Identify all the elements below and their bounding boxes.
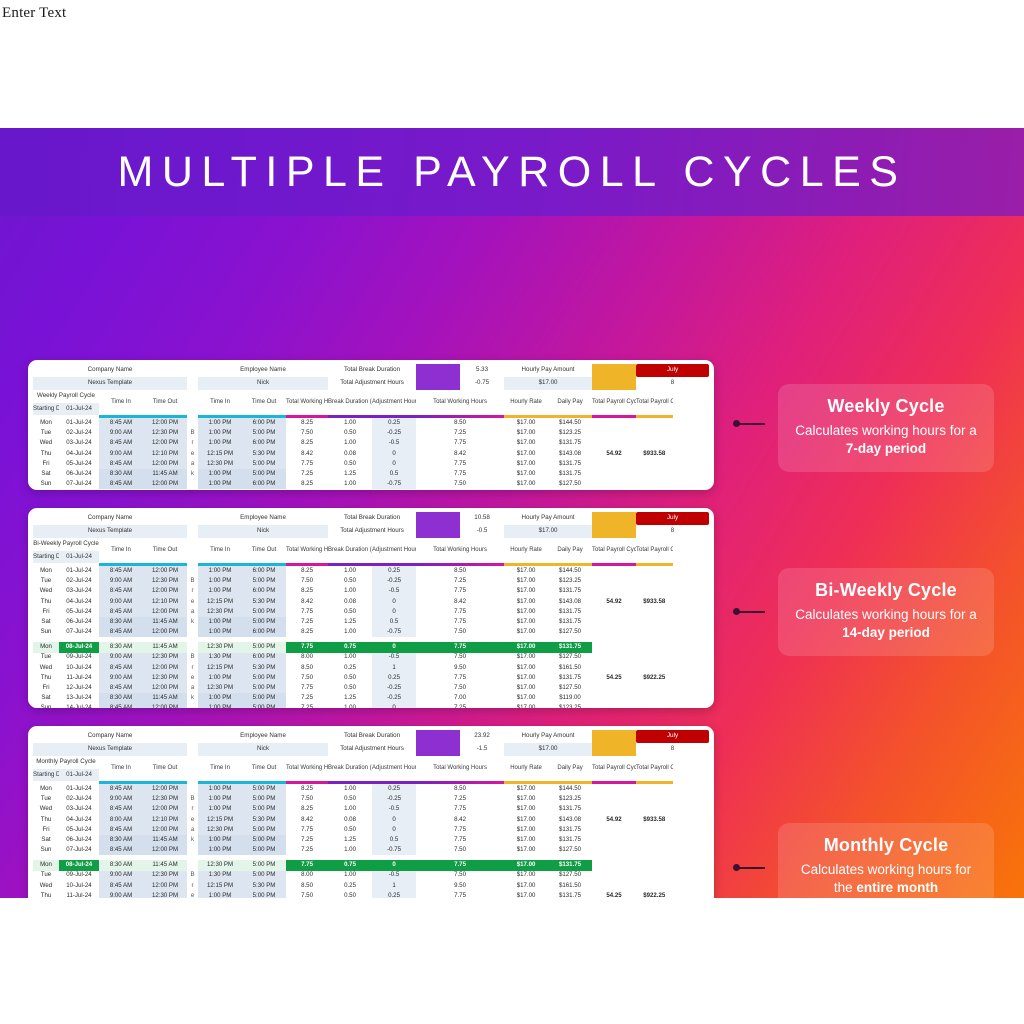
cell-time-in-2[interactable]: 1:30 PM xyxy=(198,871,242,881)
cell-time-in-2[interactable]: 1:00 PM xyxy=(198,438,242,448)
cell-total-working-hours: 7.75 xyxy=(286,459,328,469)
cell-time-in-1[interactable]: 9:00 AM xyxy=(99,449,143,459)
cell-adjustment-hours[interactable]: 0.25 xyxy=(372,784,416,794)
total-adjustment-hours-label: Total Adjustment Hours xyxy=(328,743,416,756)
cell-time-in-1[interactable]: 8:45 AM xyxy=(99,586,143,596)
col-header-time-in-1: Time In xyxy=(99,538,143,563)
cell-daily-pay: $144.50 xyxy=(548,566,592,576)
col-header-adjustment-hours: Adjustment Hours xyxy=(372,756,416,781)
cell-date[interactable]: 10-Jul-24 xyxy=(59,663,99,673)
cell-time-in-1[interactable]: 8:45 AM xyxy=(99,438,143,448)
cell-break-duration[interactable]: 0.50 xyxy=(328,794,372,804)
cell-date[interactable]: 12-Jul-24 xyxy=(59,683,99,693)
hourly-pay-amount-value[interactable]: $17.00 xyxy=(504,377,592,390)
cell-time-out-2[interactable]: 5:30 PM xyxy=(242,815,286,825)
cell-date[interactable]: 01-Jul-24 xyxy=(59,566,99,576)
cell-time-in-1[interactable]: 9:00 AM xyxy=(99,794,143,804)
cell-time-in-2[interactable]: 1:00 PM xyxy=(198,835,242,845)
cell-total-working-hours: 8.25 xyxy=(286,479,328,489)
cell-time-in-1[interactable]: 9:00 AM xyxy=(99,576,143,586)
cell-time-out-1[interactable]: 12:00 PM xyxy=(143,825,187,835)
cell-adjustment-hours[interactable]: 0.5 xyxy=(372,617,416,627)
cell-date[interactable]: 06-Jul-24 xyxy=(59,469,99,479)
cell-time-in-1[interactable]: 8:45 AM xyxy=(99,881,143,891)
cell-time-out-1[interactable]: 12:00 PM xyxy=(143,586,187,596)
cell-adjustment-hours[interactable]: 0 xyxy=(372,825,416,835)
cell-time-in-1[interactable]: 8:30 AM xyxy=(99,642,143,652)
cell-time-out-1[interactable]: 12:10 PM xyxy=(143,815,187,825)
cell-break-duration[interactable]: 1.00 xyxy=(328,703,372,708)
cell-hourly-rate: $17.00 xyxy=(504,642,548,652)
cell-date[interactable]: 01-Jul-24 xyxy=(59,418,99,428)
cell-break-duration[interactable]: 1.00 xyxy=(328,627,372,637)
cell-date[interactable]: 09-Jul-24 xyxy=(59,871,99,881)
cell-hourly-rate: $17.00 xyxy=(504,566,548,576)
cell-break-duration[interactable]: 1.25 xyxy=(328,469,372,479)
cell-time-out-1[interactable]: 12:00 PM xyxy=(143,418,187,428)
cell-time-out-2[interactable]: 5:00 PM xyxy=(242,835,286,845)
cell-date[interactable]: 11-Jul-24 xyxy=(59,673,99,683)
cell-time-in-2[interactable]: 12:15 PM xyxy=(198,597,242,607)
cell-time-in-2[interactable]: 12:30 PM xyxy=(198,459,242,469)
cell-time-in-2[interactable]: 1:00 PM xyxy=(198,784,242,794)
company-name-value[interactable]: Nexus Template xyxy=(33,743,187,756)
cell-time-in-1[interactable]: 9:00 AM xyxy=(99,673,143,683)
cell-adjustment-hours[interactable]: -0.5 xyxy=(372,871,416,881)
cell-break-duration[interactable]: 1.00 xyxy=(328,566,372,576)
cell-time-out-2[interactable]: 5:00 PM xyxy=(242,469,286,479)
cell-time-in-1[interactable]: 8:45 AM xyxy=(99,804,143,814)
cell-break-duration[interactable]: 0.75 xyxy=(328,642,372,652)
cell-adjustment-hours[interactable]: 1 xyxy=(372,881,416,891)
cell-time-out-2[interactable]: 6:00 PM xyxy=(242,566,286,576)
cell-date[interactable]: 02-Jul-24 xyxy=(59,576,99,586)
cell-hourly-rate: $17.00 xyxy=(504,607,548,617)
cell-time-in-2[interactable]: 1:00 PM xyxy=(198,428,242,438)
cell-cycle-hours: 54.92 xyxy=(592,566,636,637)
cell-adjustment-hours[interactable]: -0.75 xyxy=(372,845,416,855)
cell-time-in-2[interactable]: 1:00 PM xyxy=(198,693,242,703)
cell-time-in-1[interactable]: 8:45 AM xyxy=(99,845,143,855)
purple-divider-icon xyxy=(416,377,460,390)
cell-time-out-2[interactable]: 5:00 PM xyxy=(242,642,286,652)
cell-time-in-2[interactable]: 1:00 PM xyxy=(198,576,242,586)
cell-date[interactable]: 07-Jul-24 xyxy=(59,479,99,489)
cell-date[interactable]: 01-Jul-24 xyxy=(59,784,99,794)
cell-time-in-1[interactable]: 8:45 AM xyxy=(99,418,143,428)
cell-time-out-1[interactable]: 12:30 PM xyxy=(143,576,187,586)
cell-day: Sun xyxy=(33,627,59,637)
payroll-sheet-monthly: Company NameEmployee NameTotal Break Dur… xyxy=(33,730,709,898)
cell-time-out-1[interactable]: 12:10 PM xyxy=(143,597,187,607)
cell-break-duration[interactable]: 0.75 xyxy=(328,860,372,870)
col-header-total-working-hours-2: Total Working Hours xyxy=(416,538,504,563)
cell-date[interactable]: 11-Jul-24 xyxy=(59,891,99,898)
cell-date[interactable]: 09-Jul-24 xyxy=(59,653,99,663)
cell-time-in-2[interactable]: 1:00 PM xyxy=(198,469,242,479)
cell-adjustment-hours[interactable]: -0.5 xyxy=(372,438,416,448)
cell-daily-pay: $127.50 xyxy=(548,845,592,855)
cell-time-in-2[interactable]: 12:15 PM xyxy=(198,663,242,673)
cell-daily-pay: $143.08 xyxy=(548,597,592,607)
cell-break-duration[interactable]: 0.50 xyxy=(328,428,372,438)
cell-break-duration[interactable]: 0.25 xyxy=(328,663,372,673)
cell-adjustment-hours[interactable]: 0 xyxy=(372,459,416,469)
cell-time-out-1[interactable]: 12:00 PM xyxy=(143,627,187,637)
cell-total-working-hours: 7.75 xyxy=(286,683,328,693)
col-header-hourly-rate: Hourly Rate xyxy=(504,538,548,563)
cell-time-in-1[interactable]: 8:00 AM xyxy=(99,815,143,825)
cell-adjustment-hours[interactable]: 0 xyxy=(372,703,416,708)
cell-time-out-1[interactable]: 12:30 PM xyxy=(143,794,187,804)
cell-adjustment-hours[interactable]: 1 xyxy=(372,663,416,673)
cell-date[interactable]: 05-Jul-24 xyxy=(59,825,99,835)
cell-break-duration[interactable]: 1.00 xyxy=(328,871,372,881)
cell-adjustment-hours[interactable]: 0.25 xyxy=(372,673,416,683)
cell-adjustment-hours[interactable]: -0.25 xyxy=(372,428,416,438)
hourly-pay-amount-value[interactable]: $17.00 xyxy=(504,525,592,538)
cell-cycle-hours: 54.92 xyxy=(592,784,636,855)
cell-time-out-1[interactable]: 11:45 AM xyxy=(143,860,187,870)
cell-day: Sun xyxy=(33,845,59,855)
cell-time-in-1[interactable]: 8:30 AM xyxy=(99,469,143,479)
cell-total-working-hours: 7.25 xyxy=(286,845,328,855)
starting-date-value[interactable]: 01-Jul-24 xyxy=(59,551,99,563)
cell-time-out-1[interactable]: 12:30 PM xyxy=(143,653,187,663)
cell-date[interactable]: 04-Jul-24 xyxy=(59,597,99,607)
sheet-meta-row-2: Nexus TemplateNickTotal Adjustment Hours… xyxy=(33,377,709,390)
col-header-time-in-2: Time In xyxy=(198,390,242,415)
cell-total-working-hours: 7.75 xyxy=(286,642,328,652)
employee-name-label: Employee Name xyxy=(198,364,328,377)
cell-time-in-1[interactable]: 8:45 AM xyxy=(99,683,143,693)
cell-time-out-1[interactable]: 11:45 AM xyxy=(143,835,187,845)
cell-break-duration[interactable]: 1.25 xyxy=(328,693,372,703)
cell-time-out-2[interactable]: 5:00 PM xyxy=(242,683,286,693)
hourly-pay-amount-value[interactable]: $17.00 xyxy=(504,743,592,756)
cell-time-out-2[interactable]: 5:00 PM xyxy=(242,825,286,835)
cell-break-duration[interactable]: 1.00 xyxy=(328,784,372,794)
payroll-table-card-biweekly[interactable]: Company NameEmployee NameTotal Break Dur… xyxy=(28,508,714,708)
cell-break-duration[interactable]: 0.25 xyxy=(328,881,372,891)
cell-time-out-2[interactable]: 5:00 PM xyxy=(242,891,286,898)
col-header-total-working-hours: Total Working Hours xyxy=(286,756,328,781)
cell-adjustment-hours[interactable]: 0.25 xyxy=(372,418,416,428)
cell-adjustment-hours[interactable]: -0.5 xyxy=(372,586,416,596)
cell-time-out-2[interactable]: 6:00 PM xyxy=(242,653,286,663)
cell-time-out-1[interactable]: 12:00 PM xyxy=(143,459,187,469)
cell-time-in-2[interactable]: 12:15 PM xyxy=(198,449,242,459)
cell-time-in-2[interactable]: 1:30 PM xyxy=(198,653,242,663)
cell-hourly-rate: $17.00 xyxy=(504,825,548,835)
cell-time-in-1[interactable]: 8:30 AM xyxy=(99,860,143,870)
cell-time-in-1[interactable]: 8:45 AM xyxy=(99,607,143,617)
cell-time-in-1[interactable]: 9:00 AM xyxy=(99,653,143,663)
cell-break-duration[interactable]: 0.50 xyxy=(328,683,372,693)
cell-date[interactable]: 08-Jul-24 xyxy=(59,642,99,652)
cell-time-in-2[interactable]: 1:00 PM xyxy=(198,804,242,814)
cell-time-out-2[interactable]: 5:00 PM xyxy=(242,860,286,870)
cell-date[interactable]: 03-Jul-24 xyxy=(59,438,99,448)
cell-time-out-2[interactable]: 5:30 PM xyxy=(242,449,286,459)
cell-time-in-1[interactable]: 8:45 AM xyxy=(99,784,143,794)
cell-break-duration[interactable]: 0.50 xyxy=(328,891,372,898)
cell-time-in-2[interactable]: 1:00 PM xyxy=(198,673,242,683)
gold-divider-icon xyxy=(592,377,636,390)
cell-time-out-1[interactable]: 11:45 AM xyxy=(143,693,187,703)
total-adjustment-hours-label: Total Adjustment Hours xyxy=(328,525,416,538)
cell-break-duration[interactable]: 0.08 xyxy=(328,449,372,459)
employee-name-value[interactable]: Nick xyxy=(198,743,328,756)
cell-time-out-2[interactable]: 5:30 PM xyxy=(242,881,286,891)
cell-break-duration[interactable]: 1.00 xyxy=(328,586,372,596)
payroll-table-card-weekly[interactable]: Company NameEmployee NameTotal Break Dur… xyxy=(28,360,714,490)
cell-day: Thu xyxy=(33,673,59,683)
cell-time-out-1[interactable]: 12:00 PM xyxy=(143,703,187,708)
cell-break-duration[interactable]: 1.00 xyxy=(328,438,372,448)
cell-time-out-2[interactable]: 5:30 PM xyxy=(242,597,286,607)
cell-time-in-2[interactable]: 12:30 PM xyxy=(198,607,242,617)
cell-day: Mon xyxy=(33,642,59,652)
cell-time-in-1[interactable]: 8:30 AM xyxy=(99,835,143,845)
cell-date[interactable]: 08-Jul-24 xyxy=(59,860,99,870)
cell-time-out-2[interactable]: 5:00 PM xyxy=(242,845,286,855)
cell-time-out-2[interactable]: 6:00 PM xyxy=(242,627,286,637)
cell-date[interactable]: 05-Jul-24 xyxy=(59,459,99,469)
cell-time-out-1[interactable]: 12:30 PM xyxy=(143,891,187,898)
cell-adjustment-hours[interactable]: 0 xyxy=(372,449,416,459)
cell-daily-pay: $131.75 xyxy=(548,860,592,870)
cell-break-duration[interactable]: 1.25 xyxy=(328,617,372,627)
cell-time-in-1[interactable]: 8:45 AM xyxy=(99,459,143,469)
cell-time-out-1[interactable]: 11:45 AM xyxy=(143,642,187,652)
cell-adjustment-hours[interactable]: -0.25 xyxy=(372,693,416,703)
company-name-value[interactable]: Nexus Template xyxy=(33,525,187,538)
cell-time-in-2[interactable]: 1:00 PM xyxy=(198,627,242,637)
cell-time-out-1[interactable]: 12:30 PM xyxy=(143,871,187,881)
cell-adjustment-hours[interactable]: 0 xyxy=(372,642,416,652)
cell-total-hours: 7.75 xyxy=(416,607,504,617)
col-header-break-duration: Break Duration (Hours) xyxy=(328,756,372,781)
employee-name-value[interactable]: Nick xyxy=(198,525,328,538)
cell-adjustment-hours[interactable]: 0 xyxy=(372,860,416,870)
cell-adjustment-hours[interactable]: 0.5 xyxy=(372,835,416,845)
cell-adjustment-hours[interactable]: 0 xyxy=(372,597,416,607)
cell-time-out-2[interactable]: 5:00 PM xyxy=(242,673,286,683)
cell-time-in-2[interactable]: 1:00 PM xyxy=(198,845,242,855)
cell-total-working-hours: 8.00 xyxy=(286,871,328,881)
cell-total-hours: 7.75 xyxy=(416,617,504,627)
cell-time-in-1[interactable]: 8:45 AM xyxy=(99,566,143,576)
total-break-duration-value: 10.58 xyxy=(460,512,504,525)
cell-time-out-1[interactable]: 12:00 PM xyxy=(143,881,187,891)
cell-break-duration[interactable]: 0.08 xyxy=(328,597,372,607)
cell-time-out-1[interactable]: 12:00 PM xyxy=(143,566,187,576)
cell-time-out-2[interactable]: 5:00 PM xyxy=(242,693,286,703)
cell-time-out-1[interactable]: 12:00 PM xyxy=(143,479,187,489)
cell-adjustment-hours[interactable]: 0.25 xyxy=(372,891,416,898)
meta-gap xyxy=(187,364,198,377)
col-header-adjustment-hours: Adjustment Hours xyxy=(372,390,416,415)
col-header-time-out-1: Time Out xyxy=(143,538,187,563)
payroll-table-card-monthly[interactable]: Company NameEmployee NameTotal Break Dur… xyxy=(28,726,714,898)
cell-date[interactable]: 14-Jul-24 xyxy=(59,703,99,708)
cell-date[interactable]: 06-Jul-24 xyxy=(59,835,99,845)
cell-time-out-2[interactable]: 5:00 PM xyxy=(242,617,286,627)
cell-time-in-2[interactable]: 1:00 PM xyxy=(198,703,242,708)
cell-hourly-rate: $17.00 xyxy=(504,815,548,825)
cell-time-in-2[interactable]: 12:15 PM xyxy=(198,881,242,891)
cell-time-out-2[interactable]: 6:00 PM xyxy=(242,418,286,428)
cell-time-out-2[interactable]: 5:00 PM xyxy=(242,804,286,814)
col-header-time-out-2: Time Out xyxy=(242,756,286,781)
cell-break-duration[interactable]: 1.00 xyxy=(328,418,372,428)
cell-time-in-2[interactable]: 12:30 PM xyxy=(198,683,242,693)
cell-adjustment-hours[interactable]: 0 xyxy=(372,607,416,617)
company-name-label: Company Name xyxy=(33,730,187,743)
cell-time-in-1[interactable]: 9:00 AM xyxy=(99,597,143,607)
cell-time-in-2[interactable]: 12:30 PM xyxy=(198,642,242,652)
cell-adjustment-hours[interactable]: -0.75 xyxy=(372,479,416,489)
cell-time-out-2[interactable]: 5:00 PM xyxy=(242,459,286,469)
cell-time-out-1[interactable]: 12:00 PM xyxy=(143,845,187,855)
cell-time-out-1[interactable]: 12:30 PM xyxy=(143,428,187,438)
cell-time-out-2[interactable]: 6:00 PM xyxy=(242,479,286,489)
cell-date[interactable]: 07-Jul-24 xyxy=(59,845,99,855)
cell-break-duration[interactable]: 0.50 xyxy=(328,576,372,586)
cell-time-in-2[interactable]: 12:30 PM xyxy=(198,860,242,870)
cell-time-out-2[interactable]: 5:00 PM xyxy=(242,871,286,881)
cell-day: Mon xyxy=(33,784,59,794)
cell-day: Sat xyxy=(33,693,59,703)
month-badge: July xyxy=(636,512,709,525)
cell-date[interactable]: 02-Jul-24 xyxy=(59,428,99,438)
cell-time-in-1[interactable]: 8:45 AM xyxy=(99,479,143,489)
cell-adjustment-hours[interactable]: -0.25 xyxy=(372,794,416,804)
employee-name-value[interactable]: Nick xyxy=(198,377,328,390)
cell-date[interactable]: 04-Jul-24 xyxy=(59,815,99,825)
cell-adjustment-hours[interactable]: -0.75 xyxy=(372,627,416,637)
cell-adjustment-hours[interactable]: 0.25 xyxy=(372,566,416,576)
cell-time-out-2[interactable]: 5:00 PM xyxy=(242,607,286,617)
cell-time-out-1[interactable]: 12:00 PM xyxy=(143,438,187,448)
cell-break-duration[interactable]: 1.25 xyxy=(328,835,372,845)
meta-gap xyxy=(187,525,198,538)
cell-time-in-2[interactable]: 12:30 PM xyxy=(198,825,242,835)
cell-time-out-1[interactable]: 12:00 PM xyxy=(143,804,187,814)
total-adjustment-hours-value: -1.5 xyxy=(460,743,504,756)
cell-date[interactable]: 06-Jul-24 xyxy=(59,617,99,627)
cell-time-out-1[interactable]: 12:00 PM xyxy=(143,663,187,673)
cell-time-in-2[interactable]: 1:00 PM xyxy=(198,586,242,596)
cell-break-duration[interactable]: 0.50 xyxy=(328,607,372,617)
cell-time-in-1[interactable]: 9:00 AM xyxy=(99,428,143,438)
cell-break-duration[interactable]: 0.50 xyxy=(328,673,372,683)
cell-time-out-2[interactable]: 5:30 PM xyxy=(242,663,286,673)
cell-time-out-1[interactable]: 11:45 AM xyxy=(143,469,187,479)
cell-adjustment-hours[interactable]: -0.5 xyxy=(372,804,416,814)
purple-divider-icon xyxy=(416,730,460,743)
cell-time-in-2[interactable]: 1:00 PM xyxy=(198,418,242,428)
cell-time-in-2[interactable]: 1:00 PM xyxy=(198,617,242,627)
cell-time-in-1[interactable]: 8:45 AM xyxy=(99,627,143,637)
cell-break-duration[interactable]: 0.50 xyxy=(328,825,372,835)
cell-date[interactable]: 04-Jul-24 xyxy=(59,449,99,459)
cell-break-duration[interactable]: 1.00 xyxy=(328,653,372,663)
cell-break-duration[interactable]: 0.08 xyxy=(328,815,372,825)
cell-hourly-rate: $17.00 xyxy=(504,576,548,586)
cell-time-out-2[interactable]: 5:00 PM xyxy=(242,784,286,794)
cell-daily-pay: $143.08 xyxy=(548,815,592,825)
cell-break-duration[interactable]: 1.00 xyxy=(328,804,372,814)
cell-date[interactable]: 13-Jul-24 xyxy=(59,693,99,703)
cell-time-in-2[interactable]: 1:00 PM xyxy=(198,794,242,804)
cell-adjustment-hours[interactable]: 0.5 xyxy=(372,469,416,479)
cell-time-in-2[interactable]: 1:00 PM xyxy=(198,566,242,576)
cell-date[interactable]: 10-Jul-24 xyxy=(59,881,99,891)
cell-time-in-2[interactable]: 1:00 PM xyxy=(198,479,242,489)
starting-date-value[interactable]: 01-Jul-24 xyxy=(59,769,99,781)
cell-time-in-1[interactable]: 9:00 AM xyxy=(99,891,143,898)
cell-adjustment-hours[interactable]: 0 xyxy=(372,815,416,825)
cell-hourly-rate: $17.00 xyxy=(504,845,548,855)
cell-time-in-1[interactable]: 8:45 AM xyxy=(99,663,143,673)
cell-time-in-2[interactable]: 1:00 PM xyxy=(198,891,242,898)
cell-break-duration[interactable]: 1.00 xyxy=(328,479,372,489)
gold-divider-icon xyxy=(592,364,636,377)
cell-time-out-1[interactable]: 12:00 PM xyxy=(143,784,187,794)
starting-date-value[interactable]: 01-Jul-24 xyxy=(59,403,99,415)
cell-date[interactable]: 03-Jul-24 xyxy=(59,586,99,596)
total-break-duration-value: 5.33 xyxy=(460,364,504,377)
cell-time-out-2[interactable]: 5:00 PM xyxy=(242,576,286,586)
cell-total-working-hours: 8.25 xyxy=(286,627,328,637)
cell-day: Wed xyxy=(33,663,59,673)
cycle-label: Bi-Weekly Payroll Cycle xyxy=(33,538,99,551)
break-vertical-letter: B xyxy=(187,576,198,586)
cell-time-in-1[interactable]: 8:45 AM xyxy=(99,825,143,835)
cell-hourly-rate: $17.00 xyxy=(504,459,548,469)
cell-time-out-2[interactable]: 5:00 PM xyxy=(242,794,286,804)
cell-time-in-2[interactable]: 12:15 PM xyxy=(198,815,242,825)
cell-break-duration[interactable]: 1.00 xyxy=(328,845,372,855)
company-name-value[interactable]: Nexus Template xyxy=(33,377,187,390)
cell-adjustment-hours[interactable]: -0.25 xyxy=(372,683,416,693)
cell-time-out-2[interactable]: 6:00 PM xyxy=(242,586,286,596)
cell-time-out-2[interactable]: 6:00 PM xyxy=(242,438,286,448)
cell-time-out-1[interactable]: 12:10 PM xyxy=(143,449,187,459)
cell-time-out-2[interactable]: 5:00 PM xyxy=(242,428,286,438)
cell-time-in-1[interactable]: 8:30 AM xyxy=(99,693,143,703)
cell-time-out-1[interactable]: 12:30 PM xyxy=(143,673,187,683)
cell-adjustment-hours[interactable]: -0.25 xyxy=(372,576,416,586)
cell-adjustment-hours[interactable]: -0.5 xyxy=(372,653,416,663)
cell-time-out-1[interactable]: 12:00 PM xyxy=(143,607,187,617)
cell-date[interactable]: 05-Jul-24 xyxy=(59,607,99,617)
cell-time-in-1[interactable]: 9:00 AM xyxy=(99,871,143,881)
cell-date[interactable]: 02-Jul-24 xyxy=(59,794,99,804)
cell-time-in-1[interactable]: 8:30 AM xyxy=(99,617,143,627)
cell-time-in-1[interactable]: 8:45 AM xyxy=(99,703,143,708)
cell-date[interactable]: 07-Jul-24 xyxy=(59,627,99,637)
cell-time-out-2[interactable]: 5:00 PM xyxy=(242,703,286,708)
total-break-duration-label: Total Break Duration xyxy=(328,730,416,743)
cell-time-out-1[interactable]: 11:45 AM xyxy=(143,617,187,627)
cell-day: Fri xyxy=(33,607,59,617)
cell-time-out-1[interactable]: 12:00 PM xyxy=(143,683,187,693)
cell-date[interactable]: 03-Jul-24 xyxy=(59,804,99,814)
cell-break-duration[interactable]: 0.50 xyxy=(328,459,372,469)
